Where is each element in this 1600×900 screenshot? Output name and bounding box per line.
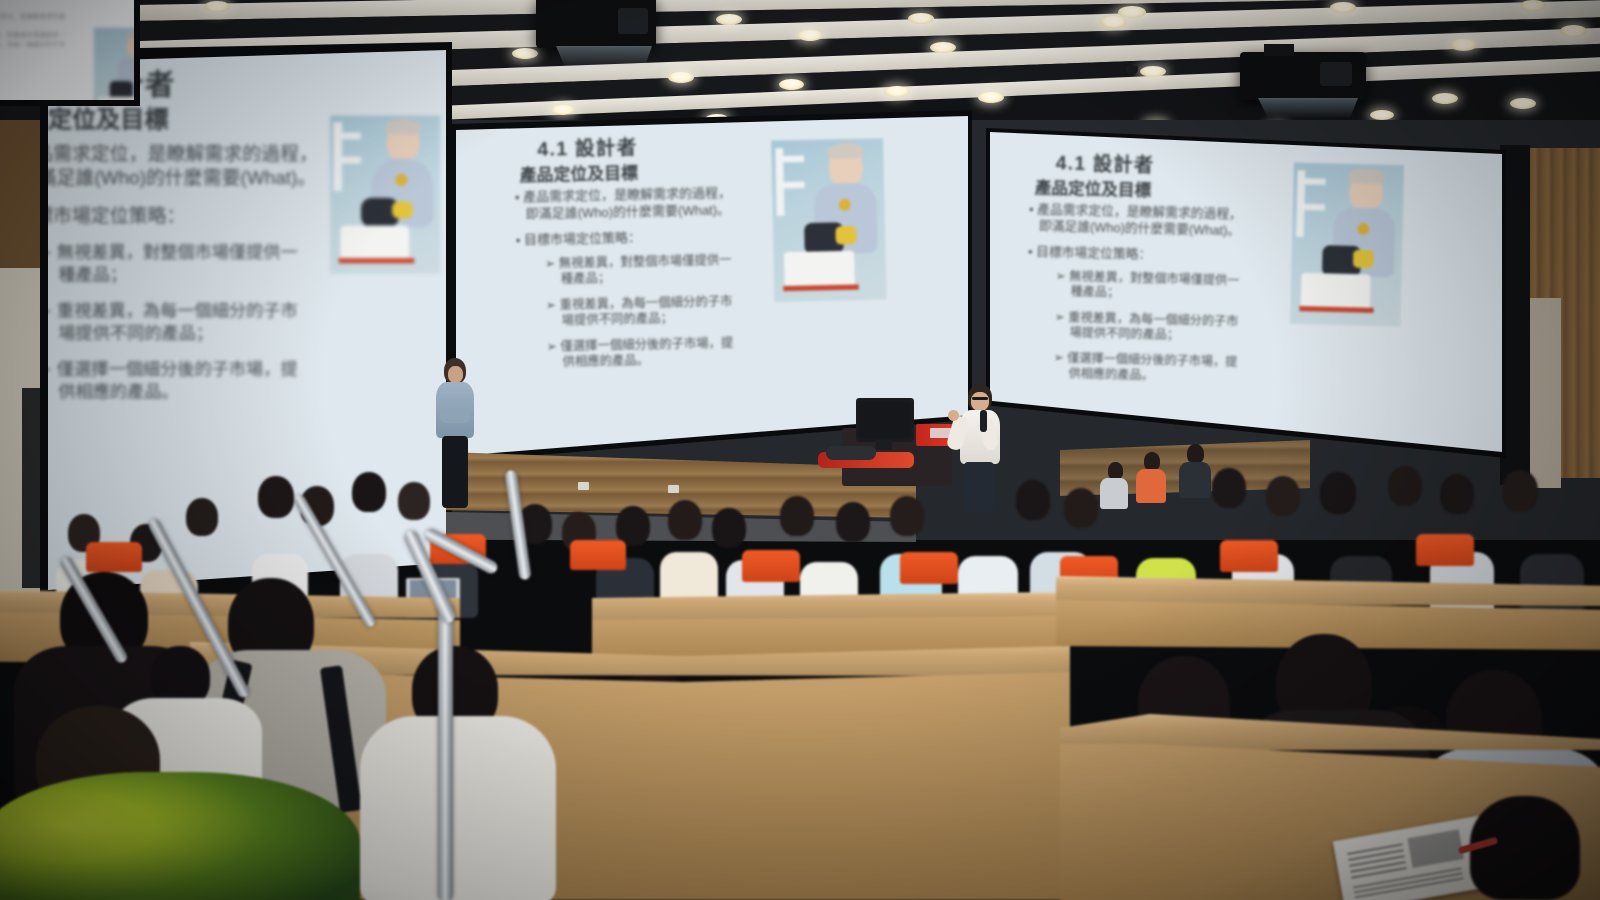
- speaker-face: [971, 392, 989, 411]
- projector-left: [536, 0, 656, 48]
- ceiling-light: [1520, 0, 1546, 11]
- ceiling-light: [1330, 2, 1356, 13]
- slide-photo: [330, 115, 440, 273]
- seat-back: [742, 550, 800, 582]
- assistant-face: [448, 366, 463, 383]
- slide-bullet-1: • 產品需求定位，是瞭解需求的過程， 即滿足誰(Who)的什麼需要(What)。: [48, 143, 318, 191]
- ceiling-light: [1118, 6, 1146, 18]
- stair-handrail-vertical[interactable]: [438, 600, 453, 900]
- seat-back: [1220, 540, 1278, 572]
- slide-title: 4.1 設計者: [537, 133, 638, 162]
- handout-text-block: [1347, 843, 1407, 880]
- slide-subtitle: 產品定位及目標: [519, 159, 638, 186]
- slide-subbullet-2: ➢ 重視差異，為每一個細分的子市 場提供不同的產品；: [1054, 310, 1239, 345]
- ceiling-light: [1100, 16, 1127, 28]
- right-screen[interactable]: 4.1 設計者 產品定位及目標 • 產品需求定位，是瞭解需求的過程， 即滿足誰(…: [990, 132, 1502, 452]
- slide-subbullet-2: ➢ 重視差異，為每一個細分的子市 場提供不同的產品；: [546, 295, 733, 330]
- slide-subbullet-3: ➢ 僅選擇一個細分後的子市場，提 供相應的產品。: [547, 336, 734, 371]
- seat-back: [900, 552, 958, 584]
- slide-title: 4.1 設計者: [1056, 149, 1155, 178]
- ceiling-light: [1140, 66, 1166, 77]
- ceiling-light: [668, 72, 694, 83]
- ceiling-light: [908, 13, 934, 24]
- slide-photo: [771, 138, 886, 302]
- speaker-glasses: [972, 397, 988, 400]
- slide-subbullet-3: ➢ 僅選擇一個細分後的子市場，提 供相應的產品。: [1053, 351, 1238, 386]
- right-screen-slide: 4.1 設計者 產品定位及目標 • 產品需求定位，是瞭解需求的過程， 即滿足誰(…: [990, 137, 1502, 452]
- slide-subbullet-1: ➢ 無視差異，對整個市場僅提供一 種產品；: [48, 243, 298, 288]
- audience-center-front: [360, 646, 580, 900]
- ceiling-light: [1510, 98, 1536, 109]
- slide-subbullet-3: ➢ 僅選擇一個細分後的子市場，提 供相應的產品。: [48, 360, 298, 405]
- slide-subbullet-2: ➢ 重視差異，為每一個細分的子市 場提供不同的產品；: [48, 301, 298, 346]
- foreground-person-jacket: [0, 772, 360, 900]
- assistant-arms: [440, 410, 470, 423]
- projector-right: [1240, 52, 1366, 100]
- handout-reader-head: [1470, 796, 1580, 900]
- lecture-hall-photo: 4.1 設計者 產品定位及目標 • 產品需求定位，是瞭解需求的過程， 即滿足誰(…: [0, 0, 1600, 900]
- slide-photo: [1290, 162, 1404, 326]
- slide-subtitle: 產品定位及目標: [1034, 174, 1151, 201]
- handout-image-block: [1407, 829, 1463, 868]
- left-wall: [0, 120, 46, 280]
- slide-photo: [94, 28, 134, 100]
- ceiling-light: [978, 92, 1004, 103]
- ceiling-light: [779, 79, 804, 90]
- ceiling-light: [1432, 93, 1458, 104]
- ceiling-light: [930, 42, 956, 53]
- ceiling-light: [551, 105, 575, 115]
- ceiling-light: [1450, 39, 1477, 51]
- ceiling-light: [1370, 110, 1394, 120]
- microphone[interactable]: [980, 410, 987, 432]
- speaker-hand: [948, 410, 959, 421]
- slide-subtitle: 產品定位及目標: [48, 102, 168, 136]
- ceiling-light: [716, 14, 742, 25]
- corner-monitor-slide: 產品需求定位，是瞭解需求的過程， 無視差異，對整個市場僅提供一 重視差異，為每一…: [0, 0, 67, 65]
- slide-subbullet-1: ➢ 無視差異，對整個市場僅提供一 種產品；: [1055, 269, 1240, 304]
- slide-subbullet-1: ➢ 無視差異，對整個市場僅提供一 種產品；: [545, 253, 732, 288]
- slide-bullet-1: • 產品需求定位，是瞭解需求的過程， 即滿足誰(Who)的什麼需要(What)。: [1028, 202, 1242, 240]
- slide-bullet-2: • 目標市場定位策略：: [516, 227, 642, 249]
- audience-area: [0, 430, 1600, 900]
- corner-monitor[interactable]: 產品需求定位，是瞭解需求的過程， 無視差異，對整個市場僅提供一 重視差異，為每一…: [0, 0, 134, 100]
- slide-bullet-1: • 產品需求定位，是瞭解需求的過程， 即滿足誰(Who)的什麼需要(What)。: [515, 186, 732, 224]
- seat-back: [570, 540, 626, 570]
- slide-bullet-2: • 目標市場定位策略：: [48, 201, 185, 229]
- ceiling-light: [884, 86, 910, 97]
- ceiling-light: [204, 1, 230, 12]
- seat-back: [1416, 534, 1474, 566]
- ceiling-light: [512, 48, 538, 59]
- ceiling-light: [1560, 25, 1587, 37]
- ceiling-light: [797, 30, 823, 41]
- slide-bullet-2: • 目標市場定位策略：: [1028, 240, 1152, 262]
